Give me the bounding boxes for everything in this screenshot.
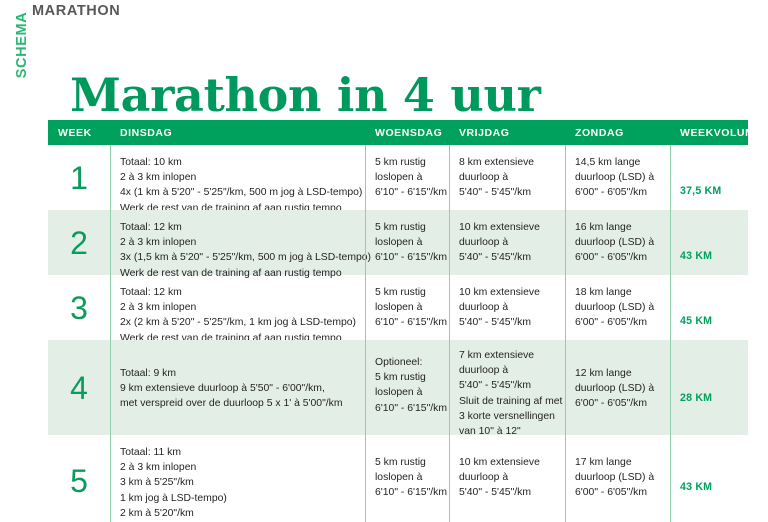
table-header-row: WEEK DINSDAG WOENSDAG VRIJDAG ZONDAG WEE… — [48, 120, 748, 145]
schema-page: SCHEMA MARATHON Marathon in 4 uur WEEK D… — [0, 0, 768, 522]
cell-weekvolume: 28 KM — [670, 340, 748, 435]
zondag-line: 14,5 km lange — [575, 155, 660, 170]
cell-zondag: 14,5 km lange duurloop (LSD) à 6'00" - 6… — [565, 145, 670, 210]
vrijdag-line: 5'40" - 5'45"/km — [459, 315, 555, 330]
cell-weekvolume: 43 KM — [670, 210, 748, 275]
training-schedule-table: WEEK DINSDAG WOENSDAG VRIJDAG ZONDAG WEE… — [48, 120, 748, 522]
woensdag-line: loslopen à — [375, 235, 439, 250]
dinsdag-total: Totaal: 9 km — [120, 366, 355, 381]
dinsdag-line: 3x (1,5 km à 5'20" - 5'25"/km, 500 m jog… — [120, 250, 355, 265]
woensdag-line: 6'10" - 6'15"/km — [375, 315, 439, 330]
vrijdag-line: 3 korte versnellingen — [459, 409, 555, 424]
vrijdag-line: 10 km extensieve — [459, 220, 555, 235]
vrijdag-line: 7 km extensieve — [459, 348, 555, 363]
woensdag-line: loslopen à — [375, 170, 439, 185]
vrijdag-line: Sluit de training af met — [459, 394, 555, 409]
cell-vrijdag: 10 km extensieve duurloop à 5'40" - 5'45… — [449, 210, 565, 275]
vrijdag-line: duurloop à — [459, 363, 555, 378]
vrijdag-line: 8 km extensieve — [459, 155, 555, 170]
page-title: Marathon in 4 uur — [70, 72, 541, 118]
cell-weekvolume: 37,5 KM — [670, 145, 748, 210]
week-number: 1 — [48, 145, 110, 210]
weekvolume-value: 45 KM — [680, 285, 738, 327]
woensdag-line: 5 km rustig — [375, 285, 439, 300]
column-header-zondag: ZONDAG — [565, 127, 670, 139]
vrijdag-line: 5'40" - 5'45"/km — [459, 378, 555, 393]
cell-woensdag: 5 km rustig loslopen à 6'10" - 6'15"/km — [365, 435, 449, 522]
dinsdag-total: Totaal: 12 km — [120, 220, 355, 235]
zondag-line: duurloop (LSD) à — [575, 170, 660, 185]
table-row: 3 Totaal: 12 km 2 à 3 km inlopen 2x (2 k… — [48, 275, 748, 340]
cell-dinsdag: Totaal: 11 km 2 à 3 km inlopen 3 km à 5'… — [110, 435, 365, 522]
cell-dinsdag: Totaal: 10 km 2 à 3 km inlopen 4x (1 km … — [110, 145, 365, 210]
dinsdag-line: 9 km extensieve duurloop à 5'50" - 6'00"… — [120, 381, 355, 396]
column-header-vrijdag: VRIJDAG — [449, 127, 565, 139]
dinsdag-line: 2x (2 km à 5'20" - 5'25"/km, 1 km jog à … — [120, 315, 355, 330]
cell-weekvolume: 45 KM — [670, 275, 748, 340]
zondag-line: 6'00" - 6'05"/km — [575, 315, 660, 330]
woensdag-line: 6'10" - 6'15"/km — [375, 485, 439, 500]
kicker-schema: SCHEMA — [14, 2, 30, 88]
column-header-dinsdag: DINSDAG — [110, 127, 365, 139]
zondag-line: duurloop (LSD) à — [575, 300, 660, 315]
cell-zondag: 17 km lange duurloop (LSD) à 6'00" - 6'0… — [565, 435, 670, 522]
dinsdag-line: 2 km à 5'20"/km — [120, 506, 355, 521]
column-header-week: WEEK — [48, 127, 110, 139]
dinsdag-line: 3 km à 5'25"/km — [120, 475, 355, 490]
cell-dinsdag: Totaal: 12 km 2 à 3 km inlopen 3x (1,5 k… — [110, 210, 365, 275]
week-number: 3 — [48, 275, 110, 340]
week-number: 2 — [48, 210, 110, 275]
vrijdag-line: 5'40" - 5'45"/km — [459, 250, 555, 265]
kicker-marathon: MARATHON — [32, 3, 120, 19]
vrijdag-line: 5'40" - 5'45"/km — [459, 485, 555, 500]
table-row: 2 Totaal: 12 km 2 à 3 km inlopen 3x (1,5… — [48, 210, 748, 275]
woensdag-line: loslopen à — [375, 300, 439, 315]
woensdag-line: 5 km rustig — [375, 155, 439, 170]
zondag-line: 6'00" - 6'05"/km — [575, 250, 660, 265]
column-header-weekvolume: WEEKVOLUME — [670, 127, 748, 139]
woensdag-line: loslopen à — [375, 470, 439, 485]
table-row: 4 Totaal: 9 km 9 km extensieve duurloop … — [48, 340, 748, 435]
cell-vrijdag: 10 km extensieve duurloop à 5'40" - 5'45… — [449, 275, 565, 340]
table-row: 1 Totaal: 10 km 2 à 3 km inlopen 4x (1 k… — [48, 145, 748, 210]
woensdag-line: 6'10" - 6'15"/km — [375, 401, 439, 416]
cell-weekvolume: 43 KM — [670, 435, 748, 522]
dinsdag-line: 2 à 3 km inlopen — [120, 460, 355, 475]
cell-woensdag: Optioneel: 5 km rustig loslopen à 6'10" … — [365, 340, 449, 435]
dinsdag-line: 4x (1 km à 5'20" - 5'25"/km, 500 m jog à… — [120, 185, 355, 200]
column-header-woensdag: WOENSDAG — [365, 127, 449, 139]
woensdag-line: 5 km rustig — [375, 220, 439, 235]
cell-woensdag: 5 km rustig loslopen à 6'10" - 6'15"/km — [365, 275, 449, 340]
woensdag-line: 6'10" - 6'15"/km — [375, 185, 439, 200]
weekvolume-value: 43 KM — [680, 220, 738, 262]
weekvolume-value: 28 KM — [680, 350, 738, 404]
vrijdag-line: 10 km extensieve — [459, 455, 555, 470]
cell-dinsdag: Totaal: 12 km 2 à 3 km inlopen 2x (2 km … — [110, 275, 365, 340]
zondag-line: 18 km lange — [575, 285, 660, 300]
cell-woensdag: 5 km rustig loslopen à 6'10" - 6'15"/km — [365, 210, 449, 275]
dinsdag-line: 2 à 3 km inlopen — [120, 170, 355, 185]
zondag-line: 6'00" - 6'05"/km — [575, 396, 660, 411]
woensdag-line: 5 km rustig — [375, 370, 439, 385]
zondag-line: 6'00" - 6'05"/km — [575, 185, 660, 200]
woensdag-line: 6'10" - 6'15"/km — [375, 250, 439, 265]
zondag-line: duurloop (LSD) à — [575, 235, 660, 250]
woensdag-line: loslopen à — [375, 385, 439, 400]
zondag-line: duurloop (LSD) à — [575, 470, 660, 485]
dinsdag-total: Totaal: 12 km — [120, 285, 355, 300]
dinsdag-line: 2 à 3 km inlopen — [120, 300, 355, 315]
vrijdag-line: duurloop à — [459, 235, 555, 250]
cell-zondag: 12 km lange duurloop (LSD) à 6'00" - 6'0… — [565, 340, 670, 435]
dinsdag-total: Totaal: 11 km — [120, 445, 355, 460]
week-number: 5 — [48, 435, 110, 522]
vrijdag-line: 5'40" - 5'45"/km — [459, 185, 555, 200]
cell-vrijdag: 7 km extensieve duurloop à 5'40" - 5'45"… — [449, 340, 565, 435]
dinsdag-line: met verspreid over de duurloop 5 x 1' à … — [120, 396, 355, 411]
cell-dinsdag: Totaal: 9 km 9 km extensieve duurloop à … — [110, 340, 365, 435]
woensdag-line: 5 km rustig — [375, 455, 439, 470]
vrijdag-line: 10 km extensieve — [459, 285, 555, 300]
vrijdag-line: duurloop à — [459, 170, 555, 185]
woensdag-line: Optioneel: — [375, 355, 439, 370]
zondag-line: 12 km lange — [575, 366, 660, 381]
weekvolume-value: 43 KM — [680, 445, 738, 493]
dinsdag-line: 1 km jog à LSD-tempo) — [120, 491, 355, 506]
cell-vrijdag: 10 km extensieve duurloop à 5'40" - 5'45… — [449, 435, 565, 522]
weekvolume-value: 37,5 KM — [680, 155, 738, 197]
vrijdag-line: duurloop à — [459, 470, 555, 485]
cell-zondag: 18 km lange duurloop (LSD) à 6'00" - 6'0… — [565, 275, 670, 340]
dinsdag-line: 2 à 3 km inlopen — [120, 235, 355, 250]
cell-vrijdag: 8 km extensieve duurloop à 5'40" - 5'45"… — [449, 145, 565, 210]
zondag-line: 17 km lange — [575, 455, 660, 470]
dinsdag-total: Totaal: 10 km — [120, 155, 355, 170]
vrijdag-line: duurloop à — [459, 300, 555, 315]
zondag-line: 16 km lange — [575, 220, 660, 235]
cell-woensdag: 5 km rustig loslopen à 6'10" - 6'15"/km — [365, 145, 449, 210]
week-number: 4 — [48, 340, 110, 435]
zondag-line: duurloop (LSD) à — [575, 381, 660, 396]
zondag-line: 6'00" - 6'05"/km — [575, 485, 660, 500]
table-row: 5 Totaal: 11 km 2 à 3 km inlopen 3 km à … — [48, 435, 748, 522]
cell-zondag: 16 km lange duurloop (LSD) à 6'00" - 6'0… — [565, 210, 670, 275]
